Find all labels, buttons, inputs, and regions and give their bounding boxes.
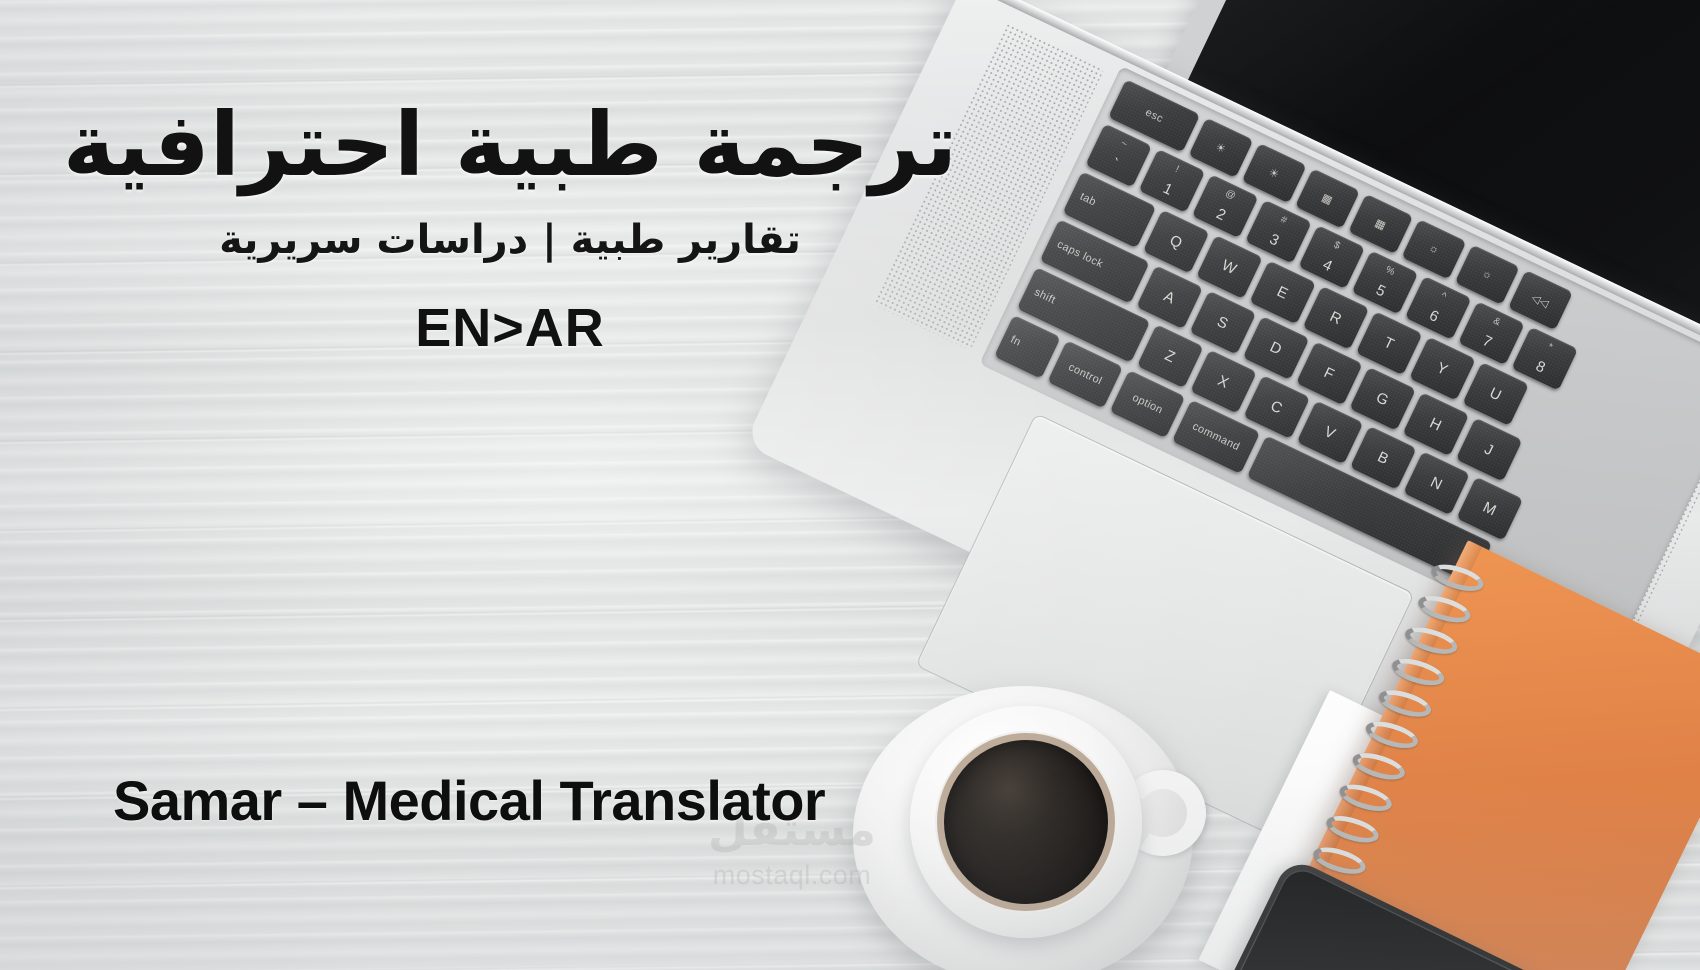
page-title: ترجمة طبية احترافية [0, 96, 1020, 195]
language-pair-label: EN>AR [0, 297, 1020, 359]
headline-block: ترجمة طبية احترافية تقارير طبية | دراسات… [0, 96, 1020, 359]
page-subtitle: تقارير طبية | دراسات سريرية [0, 217, 1020, 263]
byline: Samar – Medical Translator [113, 768, 825, 833]
promo-banner: esc ☀ ☀ ▦ ▩ ☼ ☼ ◁◁ ~` !1 [0, 0, 1700, 970]
